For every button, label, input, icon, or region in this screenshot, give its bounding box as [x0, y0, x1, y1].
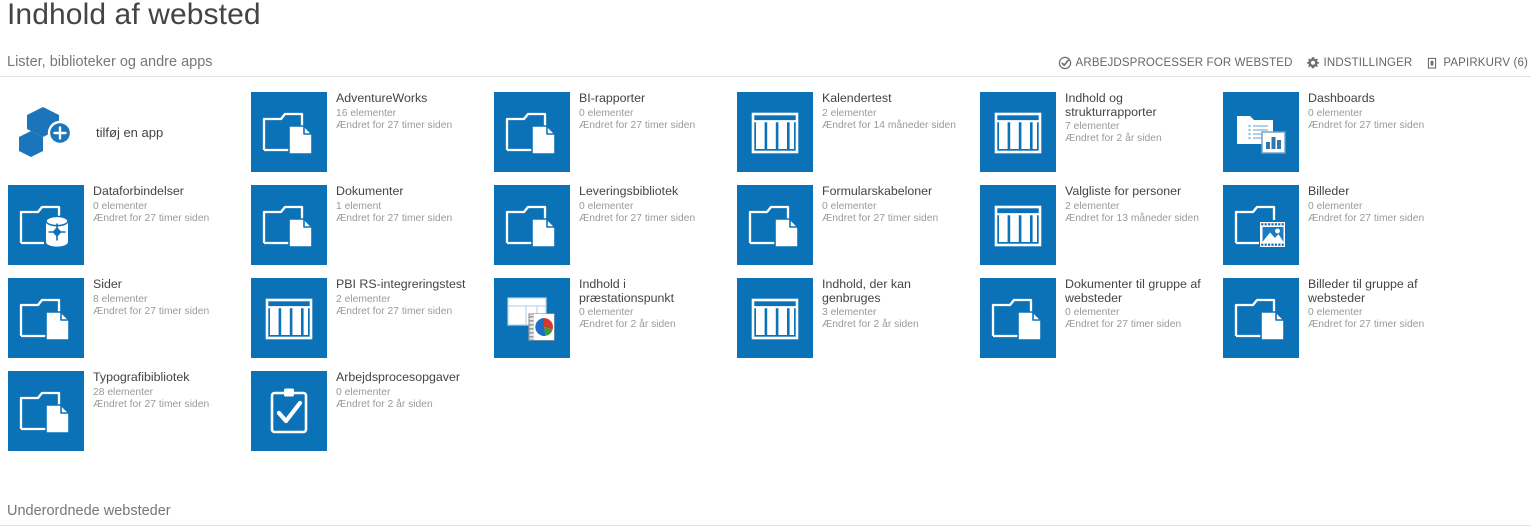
- add-app-hexagon-icon: [8, 94, 84, 174]
- app-tile-modified: Ændret for 27 timer siden: [93, 306, 233, 318]
- app-tile-modified: Ændret for 27 timer siden: [579, 213, 719, 225]
- app-tile-item-count: 2 elementer: [1065, 201, 1205, 213]
- app-tile-text: AdventureWorks16 elementerÆndret for 27 …: [336, 92, 476, 132]
- document-library-icon: [980, 278, 1056, 358]
- app-tile-text: Formularskabeloner0 elementerÆndret for …: [822, 185, 962, 225]
- document-library-icon: [8, 278, 84, 358]
- app-tile-text: Sider8 elementerÆndret for 27 timer side…: [93, 278, 233, 318]
- app-tile-text: Indhold, der kan genbruges3 elementerÆnd…: [822, 278, 962, 332]
- app-tile-text: Indhold i præstationspunkt0 elementerÆnd…: [579, 278, 719, 332]
- app-tile-title: Indhold i præstationspunkt: [579, 278, 719, 305]
- document-library-icon: [8, 371, 84, 451]
- app-tile-item-count: 0 elementer: [579, 307, 719, 319]
- picture-library-icon: [1223, 185, 1299, 265]
- app-tile-item-count: 0 elementer: [93, 201, 233, 213]
- app-tile[interactable]: Sider8 elementerÆndret for 27 timer side…: [0, 272, 243, 365]
- app-tile-modified: Ændret for 27 timer siden: [1308, 213, 1448, 225]
- app-tile[interactable]: AdventureWorks16 elementerÆndret for 27 …: [243, 86, 486, 179]
- app-tile-item-count: 2 elementer: [822, 108, 962, 120]
- app-tile-text: Dokumenter til gruppe af websteder0 elem…: [1065, 278, 1205, 332]
- app-tile-title: Leveringsbibliotek: [579, 185, 719, 199]
- app-tile-title: Billeder til gruppe af websteder: [1308, 278, 1448, 305]
- document-library-icon: [251, 92, 327, 172]
- app-tile-modified: Ændret for 27 timer siden: [93, 213, 233, 225]
- app-tile-item-count: 16 elementer: [336, 108, 476, 120]
- app-tile-item-count: 0 elementer: [336, 387, 476, 399]
- app-tile-text: Billeder til gruppe af websteder0 elemen…: [1308, 278, 1448, 332]
- app-tile-modified: Ændret for 2 år siden: [822, 319, 962, 331]
- workflow-check-icon: [1058, 56, 1072, 70]
- app-tile[interactable]: Valgliste for personer2 elementerÆndret …: [972, 179, 1215, 272]
- app-tile-item-count: 7 elementer: [1065, 121, 1205, 133]
- app-tile-modified: Ændret for 27 timer siden: [579, 120, 719, 132]
- app-tile-modified: Ændret for 27 timer siden: [336, 120, 476, 132]
- app-tile-item-count: 1 element: [336, 201, 476, 213]
- apps-section-divider: [0, 76, 1531, 77]
- app-tile-item-count: 0 elementer: [579, 201, 719, 213]
- app-tile-title: Billeder: [1308, 185, 1448, 199]
- app-tile-text: Valgliste for personer2 elementerÆndret …: [1065, 185, 1205, 225]
- add-an-app-tile[interactable]: tilføj en app: [0, 86, 243, 179]
- app-tile-modified: Ændret for 27 timer siden: [1308, 120, 1448, 132]
- list-icon: [251, 278, 327, 358]
- site-workflows-label: ARBEJDSPROCESSER FOR WEBSTED: [1076, 57, 1293, 69]
- app-tile-modified: Ændret for 13 måneder siden: [1065, 213, 1205, 225]
- document-library-icon: [251, 185, 327, 265]
- add-an-app-label: tilføj en app: [96, 125, 163, 140]
- app-tile[interactable]: Typografibibliotek28 elementerÆndret for…: [0, 365, 243, 458]
- app-tile-title: PBI RS-integreringstest: [336, 278, 476, 292]
- app-tile-title: Formularskabeloner: [822, 185, 962, 199]
- app-tile-title: AdventureWorks: [336, 92, 476, 106]
- app-tile-modified: Ændret for 27 timer siden: [822, 213, 962, 225]
- app-tile-item-count: 0 elementer: [1308, 307, 1448, 319]
- document-library-icon: [494, 185, 570, 265]
- app-tile-text: Dataforbindelser0 elementerÆndret for 27…: [93, 185, 233, 225]
- page-title: Indhold af websted: [7, 0, 261, 32]
- app-tile[interactable]: Dashboards0 elementerÆndret for 27 timer…: [1215, 86, 1458, 179]
- report-library-icon: [1223, 92, 1299, 172]
- app-tile[interactable]: BI-rapporter0 elementerÆndret for 27 tim…: [486, 86, 729, 179]
- settings-link[interactable]: INDSTILLINGER: [1306, 56, 1413, 70]
- site-contents-page: Indhold af websted Lister, biblioteker o…: [0, 0, 1535, 532]
- app-tile-title: Dataforbindelser: [93, 185, 233, 199]
- subsites-section-heading: Underordnede websteder: [7, 503, 171, 519]
- app-tile-text: BI-rapporter0 elementerÆndret for 27 tim…: [579, 92, 719, 132]
- performancepoint-content-icon: [494, 278, 570, 358]
- app-tile[interactable]: Dokumenter1 elementÆndret for 27 timer s…: [243, 179, 486, 272]
- app-tile-modified: Ændret for 27 timer siden: [93, 399, 233, 411]
- app-tile-modified: Ændret for 2 år siden: [579, 319, 719, 331]
- app-tile-item-count: 2 elementer: [336, 294, 476, 306]
- app-tile-modified: Ændret for 14 måneder siden: [822, 120, 962, 132]
- app-tile-title: Typografibibliotek: [93, 371, 233, 385]
- app-tile[interactable]: Billeder0 elementerÆndret for 27 timer s…: [1215, 179, 1458, 272]
- app-tile[interactable]: Dokumenter til gruppe af websteder0 elem…: [972, 272, 1215, 365]
- document-library-icon: [1223, 278, 1299, 358]
- app-tile-modified: Ændret for 27 timer siden: [336, 306, 476, 318]
- app-tile[interactable]: Indhold, der kan genbruges3 elementerÆnd…: [729, 272, 972, 365]
- apps-section-heading: Lister, biblioteker og andre apps: [7, 54, 213, 70]
- app-tile-text: Leveringsbibliotek0 elementerÆndret for …: [579, 185, 719, 225]
- app-tile[interactable]: Indhold og strukturrapporter7 elementerÆ…: [972, 86, 1215, 179]
- app-tile-modified: Ændret for 27 timer siden: [1065, 319, 1205, 331]
- app-tile-item-count: 3 elementer: [822, 307, 962, 319]
- app-tile-item-count: 0 elementer: [579, 108, 719, 120]
- app-tile-title: Dashboards: [1308, 92, 1448, 106]
- recycle-bin-link[interactable]: PAPIRKURV (6): [1425, 56, 1528, 70]
- recycle-bin-icon: [1425, 56, 1439, 70]
- settings-label: INDSTILLINGER: [1324, 57, 1413, 69]
- document-library-icon: [737, 185, 813, 265]
- subsites-section-divider: [0, 525, 1531, 526]
- gear-icon: [1306, 56, 1320, 70]
- app-tile-item-count: 28 elementer: [93, 387, 233, 399]
- app-tile-item-count: 0 elementer: [822, 201, 962, 213]
- app-tile-item-count: 8 elementer: [93, 294, 233, 306]
- app-tile-title: BI-rapporter: [579, 92, 719, 106]
- document-library-icon: [494, 92, 570, 172]
- app-tile-title: Sider: [93, 278, 233, 292]
- app-tile-title: Valgliste for personer: [1065, 185, 1205, 199]
- app-tile-text: Arbejdsprocesopgaver0 elementerÆndret fo…: [336, 371, 476, 411]
- app-tile[interactable]: Leveringsbibliotek0 elementerÆndret for …: [486, 179, 729, 272]
- app-tile-modified: Ændret for 2 år siden: [1065, 133, 1205, 145]
- app-tile-text: Typografibibliotek28 elementerÆndret for…: [93, 371, 233, 411]
- app-tile-item-count: 0 elementer: [1308, 108, 1448, 120]
- app-tile-text: Dokumenter1 elementÆndret for 27 timer s…: [336, 185, 476, 225]
- app-tile[interactable]: Formularskabeloner0 elementerÆndret for …: [729, 179, 972, 272]
- app-tile-modified: Ændret for 27 timer siden: [1308, 319, 1448, 331]
- list-icon: [737, 278, 813, 358]
- app-tile-text: Kalendertest2 elementerÆndret for 14 mån…: [822, 92, 962, 132]
- data-connection-library-icon: [8, 185, 84, 265]
- list-icon: [980, 185, 1056, 265]
- recycle-bin-label: PAPIRKURV (6): [1443, 57, 1528, 69]
- app-tile[interactable]: Arbejdsprocesopgaver0 elementerÆndret fo…: [243, 365, 486, 458]
- app-tile[interactable]: Indhold i præstationspunkt0 elementerÆnd…: [486, 272, 729, 365]
- command-bar: ARBEJDSPROCESSER FOR WEBSTED INDSTILLING…: [1058, 56, 1528, 70]
- app-tile[interactable]: Kalendertest2 elementerÆndret for 14 mån…: [729, 86, 972, 179]
- tasks-clipboard-icon: [251, 371, 327, 451]
- app-tile-item-count: 0 elementer: [1065, 307, 1205, 319]
- site-workflows-link[interactable]: ARBEJDSPROCESSER FOR WEBSTED: [1058, 56, 1293, 70]
- list-icon: [737, 92, 813, 172]
- app-tile-title: Dokumenter til gruppe af websteder: [1065, 278, 1205, 305]
- app-tile-text: Indhold og strukturrapporter7 elementerÆ…: [1065, 92, 1205, 146]
- apps-tile-grid: tilføj en app AdventureWorks16 elementer…: [0, 86, 1535, 458]
- app-tile[interactable]: Billeder til gruppe af websteder0 elemen…: [1215, 272, 1458, 365]
- app-tile-title: Dokumenter: [336, 185, 476, 199]
- app-tile-title: Indhold og strukturrapporter: [1065, 92, 1205, 119]
- app-tile-text: PBI RS-integreringstest2 elementerÆndret…: [336, 278, 476, 318]
- app-tile[interactable]: Dataforbindelser0 elementerÆndret for 27…: [0, 179, 243, 272]
- list-icon: [980, 92, 1056, 172]
- app-tile-text: Billeder0 elementerÆndret for 27 timer s…: [1308, 185, 1448, 225]
- app-tile-title: Indhold, der kan genbruges: [822, 278, 962, 305]
- app-tile-modified: Ændret for 27 timer siden: [336, 213, 476, 225]
- app-tile-title: Kalendertest: [822, 92, 962, 106]
- app-tile-item-count: 0 elementer: [1308, 201, 1448, 213]
- app-tile-title: Arbejdsprocesopgaver: [336, 371, 476, 385]
- app-tile-modified: Ændret for 2 år siden: [336, 399, 476, 411]
- app-tile[interactable]: PBI RS-integreringstest2 elementerÆndret…: [243, 272, 486, 365]
- app-tile-text: Dashboards0 elementerÆndret for 27 timer…: [1308, 92, 1448, 132]
